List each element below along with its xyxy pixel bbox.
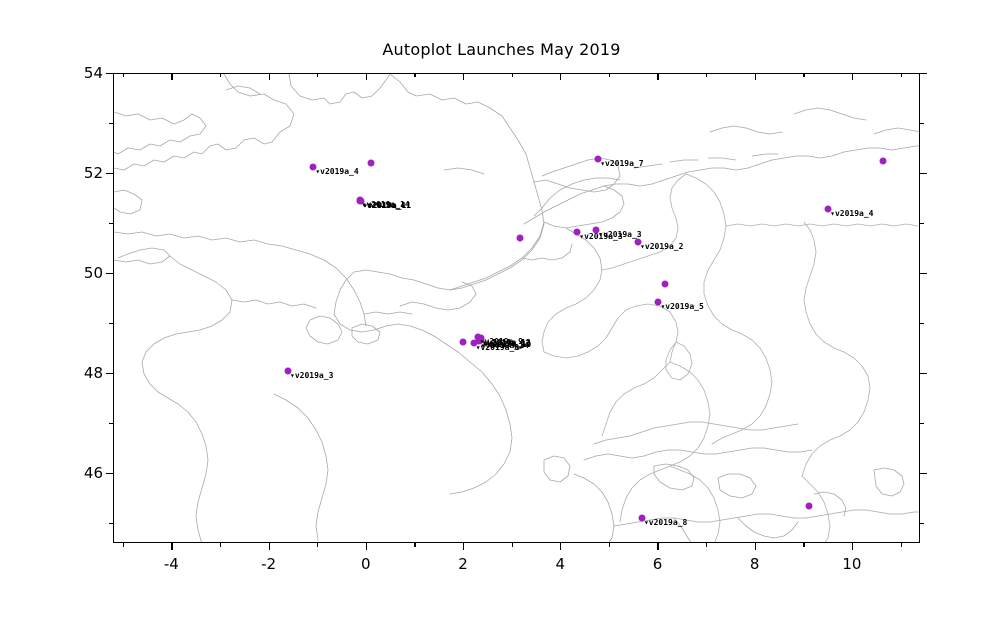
x-axis-minor-tick bbox=[317, 543, 318, 547]
x-axis-tick-label: 0 bbox=[361, 555, 371, 573]
x-axis-minor-tick bbox=[609, 543, 610, 547]
figure-canvas: Autoplot Launches May 2019 bbox=[0, 0, 1003, 633]
x-axis-tick bbox=[657, 543, 658, 550]
x-axis-tick bbox=[171, 73, 172, 80]
x-axis-minor-tick bbox=[901, 543, 902, 547]
x-axis-tick bbox=[269, 543, 270, 550]
x-axis-tick-label: 10 bbox=[842, 555, 861, 573]
x-axis-tick bbox=[852, 73, 853, 80]
y-axis-tick bbox=[106, 73, 113, 74]
x-axis-minor-tick bbox=[220, 73, 221, 77]
x-axis-minor-tick bbox=[123, 543, 124, 547]
x-axis-tick-label: 6 bbox=[653, 555, 663, 573]
y-axis-minor-tick bbox=[109, 123, 113, 124]
x-axis-tick bbox=[755, 73, 756, 80]
x-axis-minor-tick bbox=[609, 73, 610, 77]
y-axis-tick bbox=[920, 273, 927, 274]
y-axis-minor-tick bbox=[920, 323, 924, 324]
x-axis-minor-tick bbox=[901, 73, 902, 77]
y-axis-tick bbox=[920, 373, 927, 374]
y-axis-tick-label: 50 bbox=[65, 264, 103, 282]
y-axis-minor-tick bbox=[920, 123, 924, 124]
y-axis-tick bbox=[106, 173, 113, 174]
y-axis-minor-tick bbox=[920, 423, 924, 424]
y-axis-tick-label: 54 bbox=[65, 64, 103, 82]
x-axis-tick bbox=[171, 543, 172, 550]
x-axis-minor-tick bbox=[123, 73, 124, 77]
x-axis-minor-tick bbox=[512, 543, 513, 547]
y-axis-tick-label: 46 bbox=[65, 464, 103, 482]
x-axis-tick-label: 2 bbox=[458, 555, 468, 573]
x-axis-tick bbox=[560, 543, 561, 550]
x-axis-tick bbox=[463, 73, 464, 80]
x-axis-tick bbox=[657, 73, 658, 80]
page-title: Autoplot Launches May 2019 bbox=[0, 40, 1003, 59]
x-axis-minor-tick bbox=[317, 73, 318, 77]
map-axes[interactable]: ▾v2019a_4▾v2019a_14▾v2019a_11▾v2019a_4▾v… bbox=[113, 73, 920, 543]
y-axis-minor-tick bbox=[109, 423, 113, 424]
x-axis-minor-tick bbox=[220, 543, 221, 547]
x-axis-minor-tick bbox=[414, 73, 415, 77]
y-axis-tick-label: 48 bbox=[65, 364, 103, 382]
x-axis-minor-tick bbox=[512, 73, 513, 77]
y-axis-minor-tick bbox=[109, 223, 113, 224]
y-axis-tick bbox=[920, 473, 927, 474]
x-axis-minor-tick bbox=[803, 73, 804, 77]
x-axis-tick bbox=[463, 543, 464, 550]
x-axis-minor-tick bbox=[706, 73, 707, 77]
x-axis-tick-label: 4 bbox=[555, 555, 565, 573]
y-axis-minor-tick bbox=[109, 323, 113, 324]
x-axis-tick bbox=[755, 543, 756, 550]
x-axis-minor-tick bbox=[803, 543, 804, 547]
y-axis-tick-label: 52 bbox=[65, 164, 103, 182]
y-axis-minor-tick bbox=[920, 223, 924, 224]
y-axis-tick bbox=[106, 273, 113, 274]
y-axis-minor-tick bbox=[109, 523, 113, 524]
y-axis-tick bbox=[920, 73, 927, 74]
y-axis-minor-tick bbox=[920, 523, 924, 524]
y-axis-tick bbox=[106, 473, 113, 474]
x-axis-tick-label: -2 bbox=[261, 555, 276, 573]
x-axis-tick bbox=[269, 73, 270, 80]
x-axis-tick bbox=[366, 543, 367, 550]
x-axis-tick-label: 8 bbox=[750, 555, 760, 573]
x-axis-minor-tick bbox=[414, 543, 415, 547]
x-axis-tick bbox=[560, 73, 561, 80]
y-axis-tick bbox=[106, 373, 113, 374]
x-axis-tick bbox=[852, 543, 853, 550]
x-axis-minor-tick bbox=[706, 543, 707, 547]
x-axis-tick-label: -4 bbox=[164, 555, 179, 573]
basemap-coastlines bbox=[114, 74, 920, 543]
x-axis-tick bbox=[366, 73, 367, 80]
y-axis-tick bbox=[920, 173, 927, 174]
